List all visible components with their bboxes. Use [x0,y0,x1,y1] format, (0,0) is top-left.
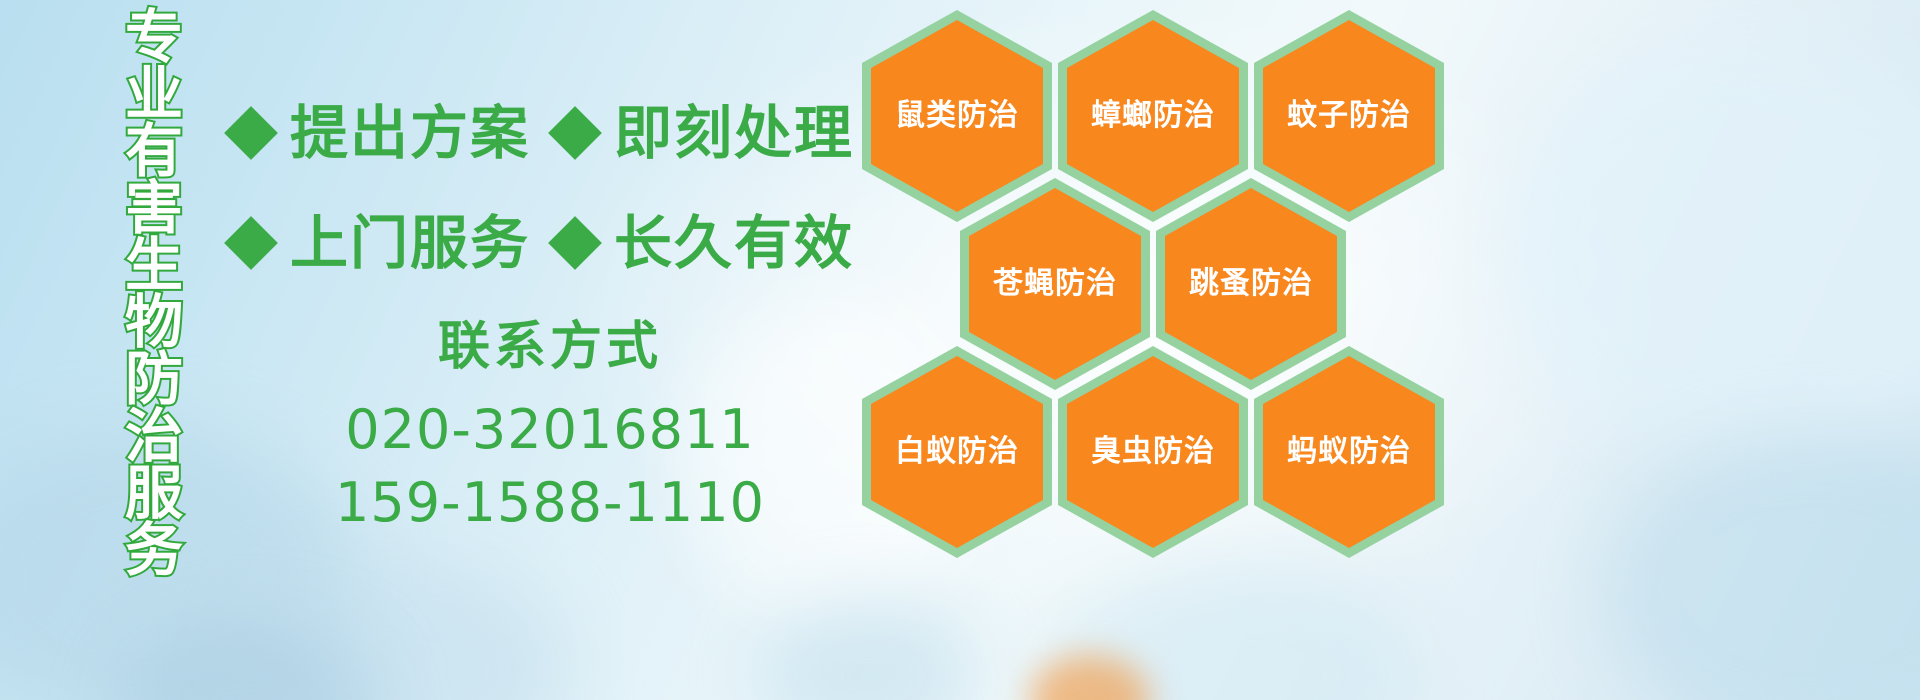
feature-label: 长久有效 [614,214,854,272]
background-blur-shape [1040,560,1420,700]
service-hex-label: 臭虫防治 [1091,437,1215,467]
service-hex-bedbug[interactable]: 臭虫防治 [1058,346,1248,558]
feature-label: 提出方案 [290,104,530,162]
service-hex-flea[interactable]: 跳蚤防治 [1156,178,1346,390]
vertical-headline-char: 专 [108,8,200,65]
feature-item: 上门服务 [232,214,530,272]
hex-inner: 白蚁防治 [871,356,1043,548]
vertical-headline-char: 生 [108,236,200,293]
contact-phone-mobile[interactable]: 159-1588-1110 [300,467,800,540]
feature-item: 提出方案 [232,104,530,162]
background-blur-shape [760,600,980,700]
service-hex-label: 苍蝇防治 [993,269,1117,299]
feature-label: 上门服务 [290,214,530,272]
service-hex-termite[interactable]: 白蚁防治 [862,346,1052,558]
vertical-headline-char: 有 [108,122,200,179]
service-hex-label: 蚊子防治 [1287,101,1411,131]
vertical-headline-char: 治 [108,407,200,464]
contact-block: 联系方式 020-32016811 159-1588-1110 [300,316,800,540]
service-hex-label: 鼠类防治 [895,101,1019,131]
hex-inner: 蚂蚁防治 [1263,356,1435,548]
vertical-headline-char: 业 [108,65,200,122]
diamond-icon [548,216,602,270]
diamond-icon [224,106,278,160]
service-hex-label: 白蚁防治 [895,437,1019,467]
feature-label: 即刻处理 [614,104,854,162]
service-hex-fly[interactable]: 苍蝇防治 [960,178,1150,390]
hex-inner: 蟑螂防治 [1067,20,1239,212]
feature-row: 上门服务 长久有效 [232,188,872,298]
contact-title: 联系方式 [300,316,800,378]
hex-inner: 鼠类防治 [871,20,1043,212]
pest-control-banner: 专 业 有 害 生 物 防 治 服 务 提出方案 即刻处理 上门服务 [0,0,1920,700]
hex-inner: 跳蚤防治 [1165,188,1337,380]
service-honeycomb: 鼠类防治 蟑螂防治 蚊子防治 苍蝇防治 跳蚤防治 白蚁防治 [862,0,1462,580]
feature-item: 长久有效 [556,214,854,272]
vertical-headline-char: 物 [108,293,200,350]
contact-phone-landline[interactable]: 020-32016811 [300,394,800,467]
service-hex-label: 蟑螂防治 [1091,101,1215,131]
service-hex-ant[interactable]: 蚂蚁防治 [1254,346,1444,558]
diamond-icon [548,106,602,160]
service-hex-mosquito[interactable]: 蚊子防治 [1254,10,1444,222]
service-hex-label: 蚂蚁防治 [1287,437,1411,467]
hex-inner: 臭虫防治 [1067,356,1239,548]
vertical-headline-char: 防 [108,350,200,407]
background-blur-shape-orange [1030,655,1150,700]
feature-list: 提出方案 即刻处理 上门服务 长久有效 [232,78,872,298]
diamond-icon [224,216,278,270]
background-blur-shape [1600,430,1920,700]
service-hex-cockroach[interactable]: 蟑螂防治 [1058,10,1248,222]
service-hex-label: 跳蚤防治 [1189,269,1313,299]
service-hex-rodent[interactable]: 鼠类防治 [862,10,1052,222]
hex-inner: 苍蝇防治 [969,188,1141,380]
vertical-headline-char: 服 [108,464,200,521]
vertical-headline-char: 务 [108,521,200,578]
hex-inner: 蚊子防治 [1263,20,1435,212]
background-blur-shape [1500,40,1920,460]
vertical-headline: 专 业 有 害 生 物 防 治 服 务 [108,8,200,578]
background-blur-shape [120,620,380,700]
background-blur-shape [230,560,570,700]
feature-item: 即刻处理 [556,104,854,162]
vertical-headline-char: 害 [108,179,200,236]
feature-row: 提出方案 即刻处理 [232,78,872,188]
